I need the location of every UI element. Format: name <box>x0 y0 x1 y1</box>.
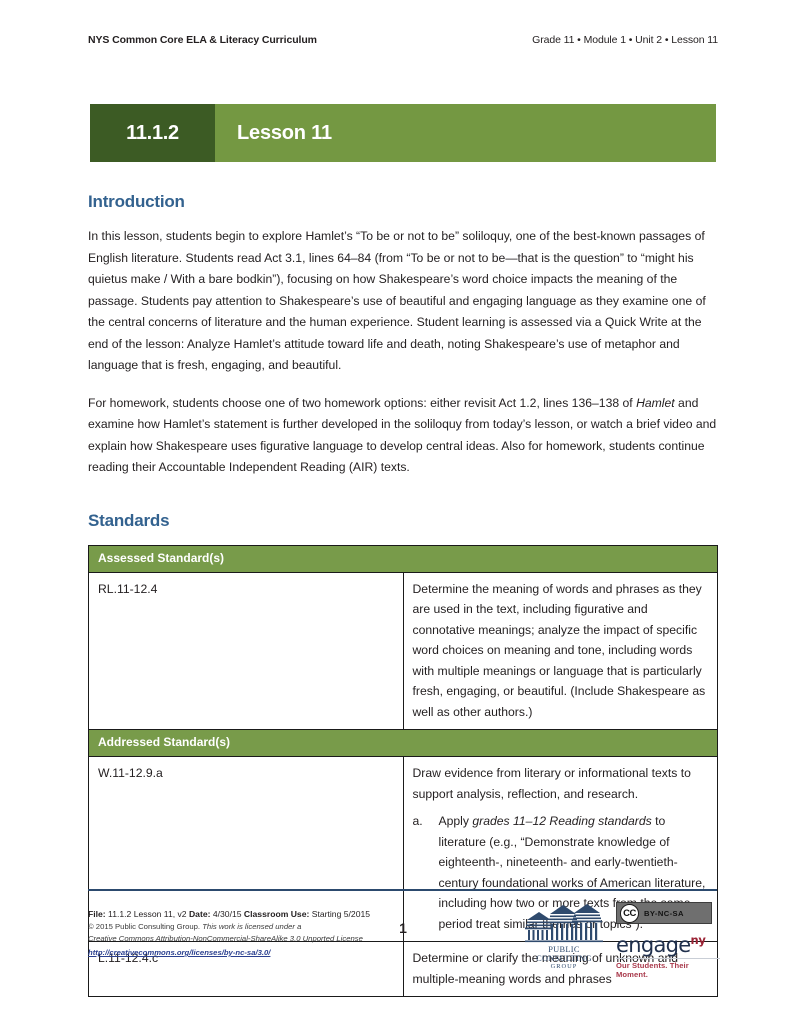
engage-ny-superscript: ny <box>690 933 705 947</box>
intro-p2-text-a: For homework, students choose one of two… <box>88 396 636 410</box>
intro-p1-text: In this lesson, students begin to explor… <box>88 229 706 372</box>
running-header: NYS Common Core ELA & Literacy Curriculu… <box>88 34 718 46</box>
table-row: RL.11-12.4 Determine the meaning of word… <box>89 572 718 730</box>
file-value: 11.1.2 Lesson 11, v2 <box>106 909 189 919</box>
standard-main-text: Draw evidence from literary or informati… <box>413 766 691 801</box>
cc-terms-text: BY-NC-SA <box>644 909 684 918</box>
addressed-standards-header: Addressed Standard(s) <box>89 730 718 757</box>
module-code: 11.1.2 <box>90 104 215 162</box>
classroom-use-label: Classroom Use: <box>244 909 309 919</box>
introduction-paragraph-1: In this lesson, students begin to explor… <box>88 226 718 377</box>
creative-commons-badge: CC BY-NC-SA <box>616 902 712 924</box>
engage-text-row: engageny <box>616 929 720 956</box>
engageny-logo-block: CC BY-NC-SA engageny Our Students. Their… <box>616 900 720 979</box>
intro-p2-italic-title: Hamlet <box>636 396 675 410</box>
sub-lead-text: Apply <box>439 814 473 828</box>
date-label: Date: <box>189 909 211 919</box>
assessed-standards-header: Assessed Standard(s) <box>89 545 718 572</box>
public-consulting-group-logo: PUBLIC CONSULTING GROUP <box>520 900 608 971</box>
cc-icon: CC <box>620 904 639 923</box>
footer-divider <box>88 889 717 891</box>
introduction-paragraph-2: For homework, students choose one of two… <box>88 393 718 479</box>
classroom-use-value: Starting 5/2015 <box>309 909 370 919</box>
sub-italic-text: grades 11–12 Reading standards <box>472 814 651 828</box>
pcg-buildings-icon <box>523 902 605 944</box>
date-value: 4/30/15 <box>210 909 243 919</box>
standards-heading: Standards <box>88 511 718 531</box>
footer-logos: PUBLIC CONSULTING GROUP CC BY-NC-SA enga… <box>520 900 720 979</box>
lesson-title-banner: 11.1.2 Lesson 11 <box>90 104 716 162</box>
standard-code: RL.11-12.4 <box>89 572 404 730</box>
lesson-breadcrumb: Grade 11 • Module 1 • Unit 2 • Lesson 11 <box>532 34 718 46</box>
document-page: NYS Common Core ELA & Literacy Curriculu… <box>0 0 796 1031</box>
license-link[interactable]: http://creativecommons.org/licenses/by-n… <box>88 948 270 957</box>
pcg-name-text: PUBLIC CONSULTING <box>520 945 608 963</box>
file-label: File: <box>88 909 106 919</box>
engageny-wordmark: engageny Our Students. Their Moment. <box>616 929 720 979</box>
footer-license-link-line: http://creativecommons.org/licenses/by-n… <box>88 946 418 959</box>
engage-tagline: Our Students. Their Moment. <box>616 958 720 979</box>
standard-description: Determine the meaning of words and phras… <box>403 572 718 730</box>
table-row-addressed-header: Addressed Standard(s) <box>89 730 718 757</box>
lesson-title: Lesson 11 <box>215 104 716 162</box>
document-footer: File: 11.1.2 Lesson 11, v2 Date: 4/30/15… <box>88 900 718 972</box>
curriculum-title: NYS Common Core ELA & Literacy Curriculu… <box>88 34 317 46</box>
engage-word-text: engage <box>616 933 690 957</box>
introduction-heading: Introduction <box>88 192 718 212</box>
pcg-sub-text: GROUP <box>520 963 608 971</box>
table-row-assessed-header: Assessed Standard(s) <box>89 545 718 572</box>
document-content: Introduction In this lesson, students be… <box>88 192 718 997</box>
